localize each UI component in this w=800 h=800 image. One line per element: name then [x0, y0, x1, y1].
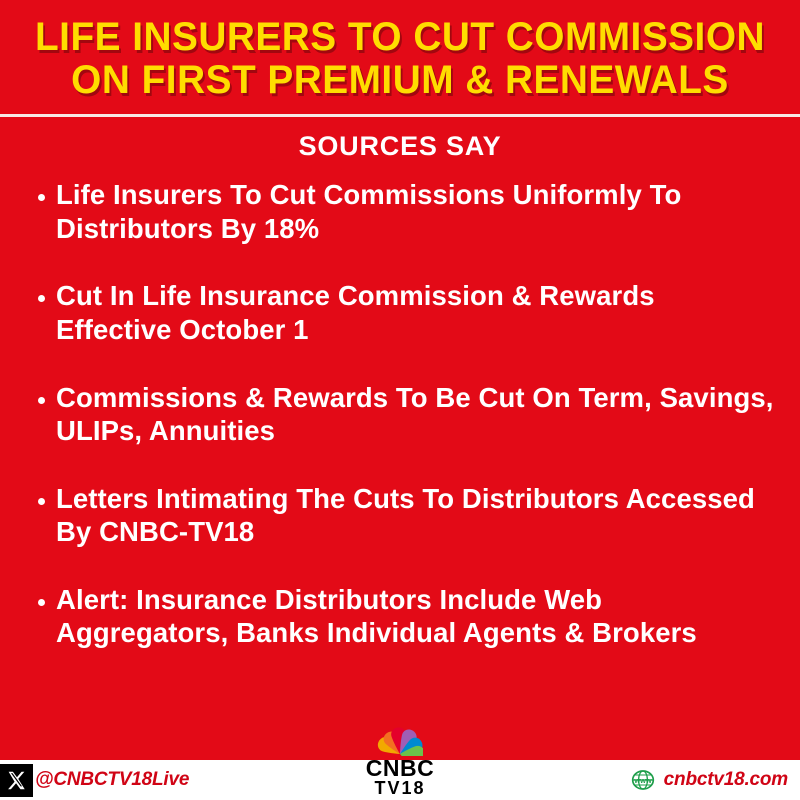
list-item-text: Letters Intimating The Cuts To Distribut… — [56, 482, 774, 549]
list-item-text: Alert: Insurance Distributors Include We… — [56, 583, 774, 650]
list-item: Cut In Life Insurance Commission & Rewar… — [38, 279, 774, 346]
headline-line-2: ON FIRST PREMIUM & RENEWALS — [26, 59, 775, 102]
headline-line-1: LIFE INSURERS TO CUT COMMISSION — [26, 16, 775, 59]
bullet-dot-icon — [38, 194, 45, 201]
website-link[interactable]: www cnbctv18.com — [631, 768, 800, 792]
www-globe-icon: www — [631, 768, 655, 792]
list-item: Alert: Insurance Distributors Include We… — [38, 583, 774, 650]
list-item: Life Insurers To Cut Commissions Uniform… — [38, 178, 774, 245]
logo-text-cnbc: CNBC — [345, 757, 455, 780]
bullet-dot-icon — [38, 295, 45, 302]
bullet-dot-icon — [38, 498, 45, 505]
list-item-text: Life Insurers To Cut Commissions Uniform… — [56, 178, 774, 245]
bullet-list: Life Insurers To Cut Commissions Uniform… — [0, 172, 800, 800]
subtitle-sources-say: SOURCES SAY — [0, 117, 800, 172]
list-item: Commissions & Rewards To Be Cut On Term,… — [38, 381, 774, 448]
headline: LIFE INSURERS TO CUT COMMISSION ON FIRST… — [0, 0, 800, 108]
list-item-text: Commissions & Rewards To Be Cut On Term,… — [56, 381, 774, 448]
nbc-peacock-icon — [377, 726, 423, 756]
bullet-dot-icon — [38, 599, 45, 606]
list-item-text: Cut In Life Insurance Commission & Rewar… — [56, 279, 774, 346]
website-text[interactable]: cnbctv18.com — [664, 769, 788, 791]
news-card: LIFE INSURERS TO CUT COMMISSION ON FIRST… — [0, 0, 800, 800]
x-twitter-icon[interactable] — [0, 764, 33, 797]
bullet-dot-icon — [38, 397, 45, 404]
cnbc-tv18-logo: CNBC TV18 — [345, 726, 455, 798]
list-item: Letters Intimating The Cuts To Distribut… — [38, 482, 774, 549]
logo-text-tv18: TV18 — [345, 779, 455, 798]
x-handle-text[interactable]: @CNBCTV18Live — [35, 769, 189, 791]
svg-text:www: www — [633, 776, 651, 785]
x-social-handle[interactable]: @CNBCTV18Live — [0, 760, 189, 800]
